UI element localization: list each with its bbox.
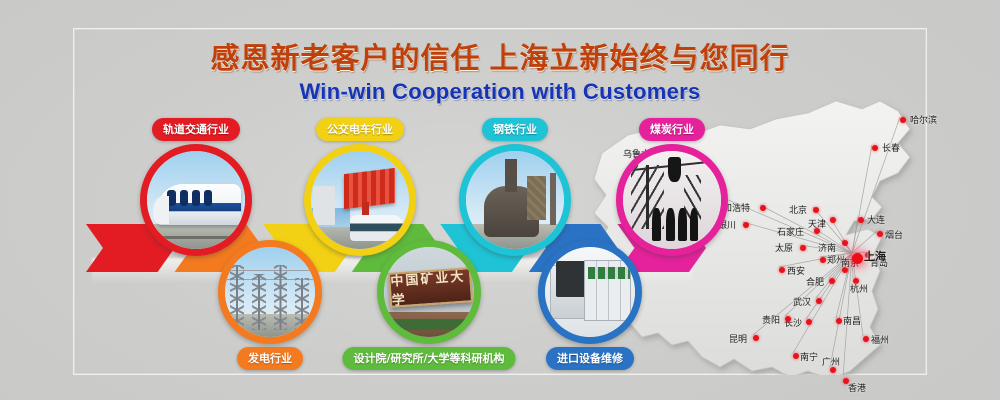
steel-mill-icon bbox=[466, 151, 564, 249]
industry-label-import-repair: 进口设备维修 bbox=[546, 347, 634, 370]
industry-label-research: 设计院/研究所/大学等科研机构 bbox=[342, 347, 515, 370]
coal-rig-icon bbox=[623, 151, 721, 249]
headline-block: 感恩新老客户的信任 上海立新始终与您同行 Win-win Cooperation… bbox=[0, 44, 1000, 105]
city-dot-icon bbox=[843, 378, 849, 384]
headline-chinese: 感恩新老客户的信任 上海立新始终与您同行 bbox=[0, 44, 1000, 75]
power-pylon-icon bbox=[225, 247, 315, 337]
industry-node-import-repair[interactable]: 进口设备维修 bbox=[538, 240, 642, 344]
industry-label-steel: 钢铁行业 bbox=[482, 118, 548, 141]
promo-banner: 哈尔滨长春呼和浩特北京天津大连石家庄烟台太原济南青岛银川乌鲁木齐西安郑州合肥南京… bbox=[0, 0, 1000, 400]
industry-circle-research[interactable]: 中国矿业大学 bbox=[377, 240, 481, 344]
university-sign-text: 中国矿业大学 bbox=[388, 268, 473, 308]
switchgear-icon bbox=[545, 247, 635, 337]
industry-node-research[interactable]: 中国矿业大学 设计院/研究所/大学等科研机构 bbox=[377, 240, 481, 344]
industry-label-bus: 公交电车行业 bbox=[316, 118, 404, 141]
industry-label-coal: 煤炭行业 bbox=[639, 118, 705, 141]
industry-circle-import-repair[interactable] bbox=[538, 240, 642, 344]
industry-circle-power[interactable] bbox=[218, 240, 322, 344]
headline-english: Win-win Cooperation with Customers bbox=[0, 79, 1000, 105]
city-label: 香港 bbox=[848, 381, 866, 394]
bus-icon bbox=[311, 151, 409, 249]
industry-node-power[interactable]: 发电行业 bbox=[218, 240, 322, 344]
industry-label-power: 发电行业 bbox=[237, 347, 303, 370]
university-icon: 中国矿业大学 bbox=[384, 247, 474, 337]
industry-label-rail: 轨道交通行业 bbox=[152, 118, 240, 141]
train-icon bbox=[147, 151, 245, 249]
